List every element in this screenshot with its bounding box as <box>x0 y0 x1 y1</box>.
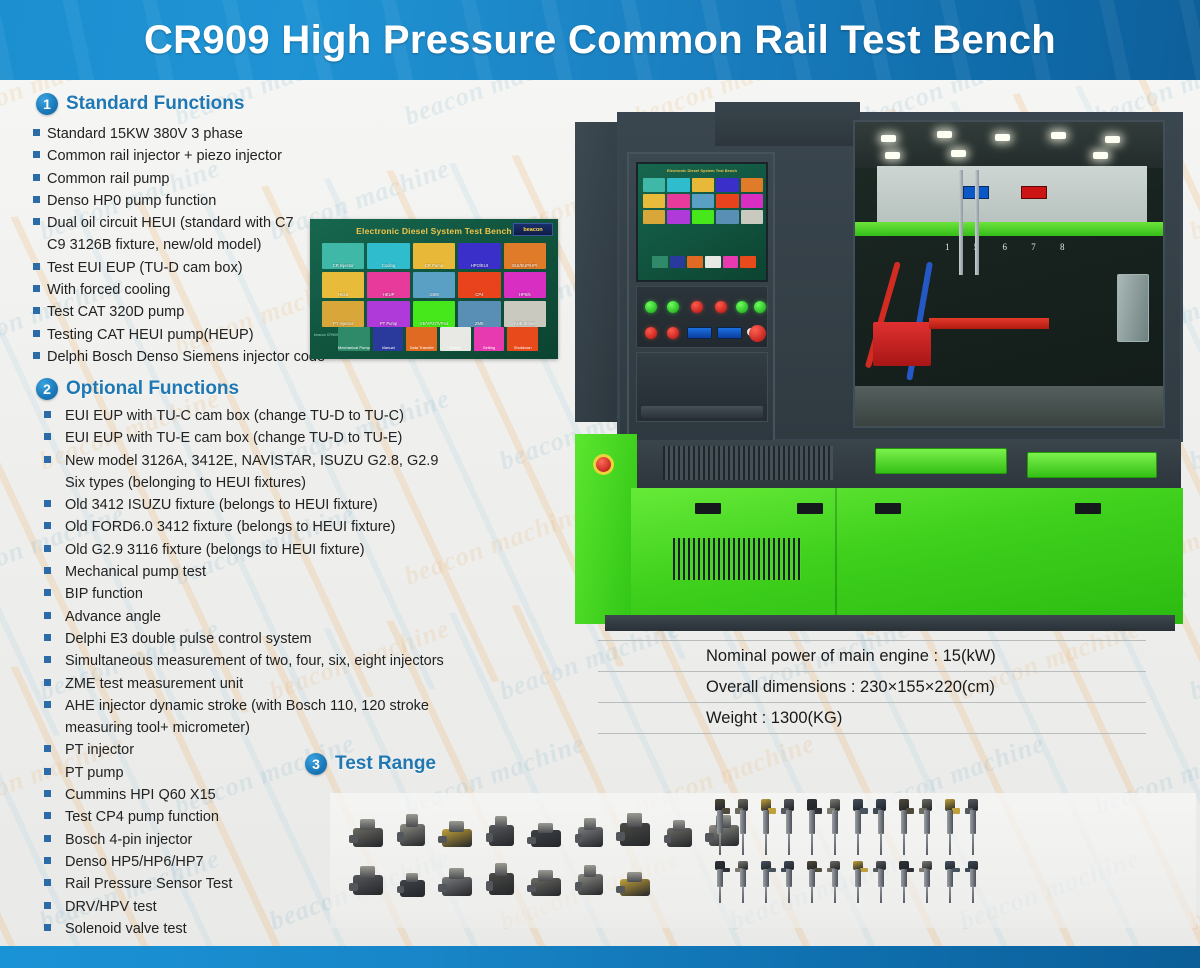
gallery-pump-thumbnail <box>485 861 519 901</box>
chamber-led-light <box>1051 132 1066 139</box>
test-range-gallery <box>330 793 1196 928</box>
software-tile[interactable]: PT Injector <box>322 301 364 327</box>
console-touchscreen[interactable]: Electronic Diesel System Test Bench <box>636 162 768 282</box>
gallery-pump-thumbnail <box>396 871 430 901</box>
software-tile[interactable]: Mechanical Pump <box>338 327 370 351</box>
bullet-square-icon <box>44 500 51 507</box>
software-tile[interactable]: CR Pump <box>413 243 455 269</box>
console-emergency-button[interactable] <box>749 325 766 342</box>
software-tile[interactable]: HP5/6 <box>504 272 546 298</box>
software-tile[interactable]: CR Injector <box>322 243 364 269</box>
bullet-square-icon <box>44 879 51 886</box>
list-item-label: Advance angle <box>65 606 161 628</box>
software-tile[interactable]: HPO/EUI <box>458 243 500 269</box>
machine-drawer-handle[interactable] <box>1027 452 1157 478</box>
machine-drawer-handle[interactable] <box>875 448 1007 474</box>
list-item-label: BIP function <box>65 583 143 605</box>
gallery-injector-thumbnail <box>942 799 958 855</box>
list-item: Mechanical pump test <box>40 561 510 583</box>
list-item: Standard 15KW 380V 3 phase <box>33 123 363 145</box>
software-tile-label: CP4 <box>475 292 483 299</box>
gallery-pump-thumbnail <box>526 868 567 901</box>
gallery-injector-thumbnail <box>712 799 728 855</box>
gallery-injector-thumbnail <box>919 861 935 903</box>
page-header: CR909 High Pressure Common Rail Test Ben… <box>0 0 1200 80</box>
chamber-led-light <box>881 135 896 142</box>
software-tile-label: Mechanical Pump <box>338 345 370 351</box>
section-title-optional: Optional Functions <box>66 378 239 400</box>
list-item-label: Denso HP0 pump function <box>47 190 216 212</box>
machine-cabinet-divider <box>835 488 837 624</box>
chamber-measuring-cylinder <box>1117 274 1149 342</box>
gallery-injector-thumbnail <box>942 861 958 903</box>
bullet-square-icon <box>33 151 40 158</box>
gallery-injector-thumbnail <box>919 799 935 855</box>
chamber-piston-rod <box>975 170 979 275</box>
bullet-square-icon <box>44 411 51 418</box>
bullet-square-icon <box>44 456 51 463</box>
gallery-pump-thumbnail <box>348 817 389 852</box>
chamber-piston-rod <box>959 170 963 275</box>
list-item: PT pump <box>40 762 510 784</box>
list-item: Old 3412 ISUZU fixture (belongs to HEUI … <box>40 494 510 516</box>
chamber-back-panel <box>877 166 1147 222</box>
chamber-led-light <box>1105 136 1120 143</box>
chamber-display-red <box>1021 186 1047 199</box>
list-item: ZME test measurement unit <box>40 673 510 695</box>
software-tile[interactable]: EUI/EUP/HPI <box>504 243 546 269</box>
machine-lower-vent-grille <box>673 538 801 580</box>
list-item: Denso HP0 pump function <box>33 190 363 212</box>
list-item-label: Old G2.9 3116 fixture (belongs to HEUI f… <box>65 539 365 561</box>
software-tile-label: CR Pump <box>425 263 443 270</box>
console-button-red[interactable] <box>715 301 727 313</box>
software-corner-note: beacon CR909 <box>314 333 338 337</box>
gallery-injector-thumbnail <box>873 799 889 855</box>
chamber-led-light <box>937 131 952 138</box>
software-tile[interactable]: ZME <box>458 301 500 327</box>
bullet-square-icon <box>44 522 51 529</box>
gallery-row-pumps-2 <box>348 861 663 901</box>
gallery-pump-thumbnail <box>574 863 608 901</box>
bullet-square-icon <box>44 902 51 909</box>
gallery-pump-thumbnail <box>485 814 519 852</box>
list-item-label: Testing CAT HEUI pump(HEUP) <box>47 324 254 346</box>
bullet-square-icon <box>44 924 51 931</box>
list-item-label: Denso HP5/HP6/HP7 <box>65 851 204 873</box>
gallery-injector-thumbnail <box>850 799 866 855</box>
gallery-pump-thumbnail <box>437 866 478 901</box>
gallery-pump-thumbnail <box>396 812 430 852</box>
console-button-green[interactable] <box>736 301 748 313</box>
software-brand-logo: beacon <box>513 223 553 236</box>
specifications-table: Nominal power of main engine : 15(kW)Ove… <box>598 640 1146 734</box>
machine-cabinet-slot <box>1075 503 1101 514</box>
software-tile-grid-row2: Mechanical PumpManualData TransferNozzle… <box>338 327 538 351</box>
gallery-injector-thumbnail <box>735 861 751 903</box>
machine-control-console: Electronic Diesel System Test Bench <box>627 152 775 446</box>
list-item: Common rail pump <box>33 168 363 190</box>
section-badge-3: 3 <box>305 753 327 775</box>
bullet-square-icon <box>33 174 40 181</box>
console-screen-tile[interactable] <box>741 178 763 192</box>
list-item: Old FORD6.0 3412 fixture (belongs to HEU… <box>40 516 510 538</box>
console-screen-tiles-row2 <box>652 256 756 268</box>
bullet-square-icon <box>33 307 40 314</box>
console-button-red[interactable] <box>667 327 679 339</box>
software-tile-label: Manual <box>382 345 395 351</box>
bullet-square-icon <box>33 218 40 225</box>
console-screen-tile[interactable] <box>716 210 738 224</box>
software-screenshot-thumbnail: Electronic Diesel System Test Bench beac… <box>310 219 558 359</box>
gallery-injector-thumbnail <box>896 799 912 855</box>
software-tile-label: CR Injector <box>333 263 354 270</box>
gallery-row-pumps-1 <box>348 811 752 852</box>
machine-plinth <box>605 615 1175 631</box>
bullet-square-icon <box>44 701 51 708</box>
software-tile[interactable]: AHE Stroke <box>504 301 546 327</box>
bullet-square-icon <box>33 330 40 337</box>
section-title-standard: Standard Functions <box>66 93 244 115</box>
console-display-left <box>687 327 712 339</box>
gallery-pump-thumbnail <box>437 819 478 852</box>
list-item: Simultaneous measurement of two, four, s… <box>40 650 510 672</box>
chamber-led-light <box>1093 152 1108 159</box>
chamber-led-light <box>995 134 1010 141</box>
list-item-label: DRV/HPV test <box>65 896 157 918</box>
list-item-label: Test CP4 pump function <box>65 806 219 828</box>
list-item-label: Dual oil circuit HEUI (standard with C7 <box>47 212 294 234</box>
list-item-label: New model 3126A, 3412E, NAVISTAR, ISUZU … <box>65 450 438 472</box>
bullet-square-icon <box>44 812 51 819</box>
software-tile[interactable]: HEUI <box>322 272 364 298</box>
gallery-pump-thumbnail <box>663 818 697 852</box>
bullet-square-icon <box>33 352 40 359</box>
console-button-red[interactable] <box>691 301 703 313</box>
gallery-injector-thumbnail <box>827 861 843 903</box>
software-tile-label: Nozzle <box>449 345 461 351</box>
list-item-label: AHE injector dynamic stroke (with Bosch … <box>65 695 429 717</box>
bullet-square-icon <box>44 857 51 864</box>
list-item-label: PT injector <box>65 739 134 761</box>
console-button-red[interactable] <box>645 327 657 339</box>
chamber-red-pump-block <box>873 322 931 366</box>
chamber-led-light <box>951 150 966 157</box>
list-item-continuation: measuring tool+ micrometer) <box>40 717 510 739</box>
list-item-label: Delphi Bosch Denso Siemens injector code <box>47 346 325 368</box>
gallery-pump-thumbnail <box>574 816 608 852</box>
gallery-injector-thumbnail <box>896 861 912 903</box>
section-heading-testrange: 3 Test Range <box>305 753 436 775</box>
software-tile-label: HPO/EUI <box>471 263 488 270</box>
console-screen-tile[interactable] <box>692 178 714 192</box>
chamber-floor <box>855 386 1163 426</box>
gallery-injector-thumbnail <box>781 799 797 855</box>
gallery-injector-thumbnail <box>873 861 889 903</box>
software-tile[interactable]: HEUP <box>367 272 409 298</box>
machine-side-panel <box>575 122 619 422</box>
list-item-label: Bosch 4-pin injector <box>65 829 192 851</box>
bullet-square-icon <box>33 285 40 292</box>
list-item: Old G2.9 3116 fixture (belongs to HEUI f… <box>40 539 510 561</box>
machine-cabinet-slot <box>695 503 721 514</box>
console-screen-tile[interactable] <box>687 256 703 268</box>
software-tile-label: HEUP <box>383 292 395 299</box>
list-item-continuation: Six types (belonging to HEUI fixtures) <box>40 472 510 494</box>
list-item-label: EUI EUP with TU-C cam box (change TU-D t… <box>65 405 404 427</box>
console-screen-tile[interactable] <box>723 256 739 268</box>
console-screen-tile[interactable] <box>741 210 763 224</box>
list-item: Common rail injector + piezo injector <box>33 145 363 167</box>
console-button-green[interactable] <box>754 301 766 313</box>
section-title-testrange: Test Range <box>335 753 436 775</box>
chamber-ceiling <box>855 122 1163 168</box>
list-item-label: Delphi E3 double pulse control system <box>65 628 312 650</box>
software-tile[interactable]: CP4 <box>458 272 500 298</box>
gallery-pump-thumbnail <box>348 864 389 901</box>
list-item-label: Mechanical pump test <box>65 561 206 583</box>
list-item-label: Cummins HPI Q60 X15 <box>65 784 216 806</box>
console-screen-tile[interactable] <box>667 210 689 224</box>
software-tile[interactable]: Coding <box>367 243 409 269</box>
bullet-square-icon <box>44 656 51 663</box>
gallery-injector-thumbnail <box>758 799 774 855</box>
machine-hood <box>715 102 860 146</box>
bullet-square-icon <box>44 567 51 574</box>
console-screen-tile[interactable] <box>652 256 668 268</box>
chamber-nozzle-numbers: 1 5 6 7 8 <box>945 242 1076 252</box>
bullet-square-icon <box>44 835 51 842</box>
list-item-label: Rail Pressure Sensor Test <box>65 873 232 895</box>
bullet-square-icon <box>44 545 51 552</box>
list-item-label: Old FORD6.0 3412 fixture (belongs to HEU… <box>65 516 395 538</box>
bullet-square-icon <box>44 790 51 797</box>
list-item-label: Solenoid valve test <box>65 918 187 940</box>
list-item: EUI EUP with TU-E cam box (change TU-D t… <box>40 427 510 449</box>
bullet-square-icon <box>44 768 51 775</box>
bullet-square-icon <box>44 745 51 752</box>
gallery-injector-thumbnail <box>827 799 843 855</box>
console-button-panel <box>636 286 768 348</box>
section-badge-1: 1 <box>36 93 58 115</box>
console-button-green[interactable] <box>645 301 657 313</box>
software-tile[interactable]: VE/VP37/VP44 <box>413 301 455 327</box>
spec-row: Nominal power of main engine : 15(kW) <box>598 640 1146 672</box>
spec-row: Overall dimensions : 230×155×220(cm) <box>598 672 1146 703</box>
chamber-led-light <box>885 152 900 159</box>
gallery-pump-thumbnail <box>615 811 656 852</box>
software-tile-grid: CR InjectorCodingCR PumpHPO/EUIEUI/EUP/H… <box>322 243 546 327</box>
machine-cabinet-slot <box>797 503 823 514</box>
list-item: BIP function <box>40 583 510 605</box>
gallery-injector-thumbnail <box>781 861 797 903</box>
machine-body: 1 5 6 7 8 Electronic Diesel System Test … <box>575 108 1195 633</box>
console-screen-tiles <box>643 178 763 224</box>
gallery-injector-thumbnail <box>712 861 728 903</box>
list-item-label: PT pump <box>65 762 124 784</box>
list-item: Advance angle <box>40 606 510 628</box>
gallery-injector-thumbnail <box>965 799 981 855</box>
section-heading-optional: 2 Optional Functions <box>36 378 239 400</box>
gallery-pump-thumbnail <box>526 821 567 852</box>
software-tile[interactable]: 3408 <box>413 272 455 298</box>
software-tile[interactable]: Data Transfer <box>406 327 437 351</box>
list-item-label: Standard 15KW 380V 3 phase <box>47 123 243 145</box>
console-screen-tile[interactable] <box>692 194 714 208</box>
list-item-label: Common rail injector + piezo injector <box>47 145 282 167</box>
gallery-injector-thumbnail <box>850 861 866 903</box>
gallery-pump-thumbnail <box>615 870 656 901</box>
software-tile-label: Shutdown <box>514 345 532 351</box>
software-tile[interactable]: Nozzle <box>440 327 471 351</box>
software-tile-label: HEUI <box>338 292 348 299</box>
software-tile-label: Data Transfer <box>410 345 434 351</box>
list-item-label: Test CAT 320D pump <box>47 301 184 323</box>
chamber-common-rail <box>929 318 1049 329</box>
console-screen-tile[interactable] <box>705 256 721 268</box>
list-item-label: With forced cooling <box>47 279 170 301</box>
console-screen-tile[interactable] <box>667 194 689 208</box>
console-screen-tile[interactable] <box>670 256 686 268</box>
console-screen-tile[interactable] <box>643 210 665 224</box>
bullet-square-icon <box>44 612 51 619</box>
software-tile-label: EUI/EUP/HPI <box>512 263 537 270</box>
gallery-injector-thumbnail <box>758 861 774 903</box>
software-tile-label: Setting <box>483 345 495 351</box>
gallery-injector-thumbnail <box>804 799 820 855</box>
software-tile[interactable]: Manual <box>373 327 404 351</box>
software-tile-label: Coding <box>382 263 395 270</box>
software-tile-label: HP5/6 <box>519 292 531 299</box>
gallery-injector-thumbnail <box>735 799 751 855</box>
list-item-label: ZME test measurement unit <box>65 673 243 695</box>
list-item-label: Common rail pump <box>47 168 170 190</box>
gallery-injector-thumbnail <box>804 861 820 903</box>
console-screen-tile[interactable] <box>716 178 738 192</box>
software-tile[interactable]: PT Pump <box>367 301 409 327</box>
bullet-square-icon <box>44 679 51 686</box>
machine-test-chamber: 1 5 6 7 8 <box>853 120 1165 428</box>
gallery-row-injectors-2 <box>712 861 988 903</box>
console-display-right <box>717 327 742 339</box>
bullet-square-icon <box>33 196 40 203</box>
bullet-square-icon <box>33 129 40 136</box>
bullet-square-icon <box>44 589 51 596</box>
list-item-label: EUI EUP with TU-E cam box (change TU-D t… <box>65 427 402 449</box>
page-title: CR909 High Pressure Common Rail Test Ben… <box>0 0 1200 80</box>
list-item: PT injector <box>40 739 510 761</box>
software-tile-label: 3408 <box>429 292 438 299</box>
bullet-square-icon <box>44 634 51 641</box>
bullet-square-icon <box>44 433 51 440</box>
bullet-square-icon <box>33 263 40 270</box>
list-item-label: Test EUI EUP (TU-D cam box) <box>47 257 243 279</box>
gallery-row-injectors-1 <box>712 799 988 855</box>
console-screen-tile[interactable] <box>692 210 714 224</box>
list-item: EUI EUP with TU-C cam box (change TU-D t… <box>40 405 510 427</box>
console-screen-tile[interactable] <box>741 194 763 208</box>
console-screen-tile[interactable] <box>643 178 665 192</box>
spec-row: Weight : 1300(KG) <box>598 703 1146 734</box>
page-footer-bar <box>0 946 1200 968</box>
console-screen-title: Electronic Diesel System Test Bench <box>638 164 766 173</box>
machine-vent-grille <box>663 446 833 480</box>
gallery-injector-thumbnail <box>965 861 981 903</box>
machine-cabinet-slot <box>875 503 901 514</box>
software-tile[interactable]: Shutdown <box>507 327 538 351</box>
software-tile[interactable]: Setting <box>474 327 505 351</box>
console-button-green[interactable] <box>667 301 679 313</box>
section-heading-standard: 1 Standard Functions <box>36 93 244 115</box>
list-item-label: Old 3412 ISUZU fixture (belongs to HEUI … <box>65 494 378 516</box>
console-screen-tile[interactable] <box>740 256 756 268</box>
console-screen-tile[interactable] <box>667 178 689 192</box>
list-item-label: Simultaneous measurement of two, four, s… <box>65 650 444 672</box>
console-keyboard-tray[interactable] <box>641 406 763 418</box>
product-photo-test-bench: 1 5 6 7 8 Electronic Diesel System Test … <box>575 108 1195 633</box>
console-screen-tile[interactable] <box>643 194 665 208</box>
machine-emergency-stop[interactable] <box>593 454 614 475</box>
list-item: Delphi E3 double pulse control system <box>40 628 510 650</box>
console-screen-tile[interactable] <box>716 194 738 208</box>
chamber-green-shelf <box>855 222 1163 236</box>
list-item: New model 3126A, 3412E, NAVISTAR, ISUZU … <box>40 450 510 472</box>
list-item: AHE injector dynamic stroke (with Bosch … <box>40 695 510 717</box>
section-badge-2: 2 <box>36 378 58 400</box>
